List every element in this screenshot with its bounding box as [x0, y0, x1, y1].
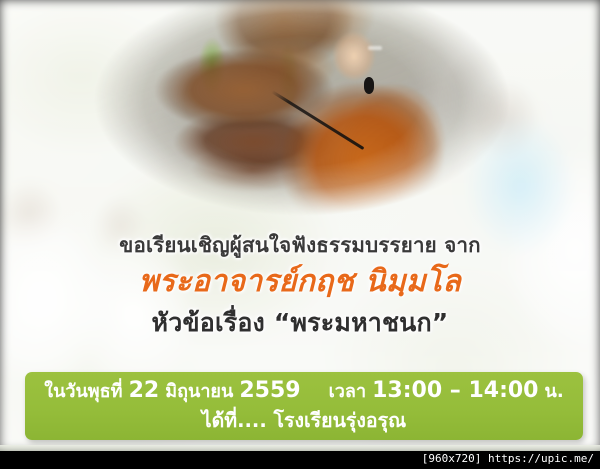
date-month-label: มิถุนายน	[165, 381, 233, 402]
monk-photo	[76, 0, 528, 226]
source-url-label[interactable]: https://upic.me/	[488, 452, 594, 465]
time-suffix-label: น.	[545, 381, 564, 402]
eyeglasses-glint	[368, 46, 382, 50]
time-range-value: 13:00 – 14:00	[372, 378, 538, 403]
footer-watermark: [960x720] https://upic.me/	[422, 452, 594, 465]
date-day-value: 22	[129, 378, 160, 403]
schedule-datetime-row: ในวันพุธที่ 22 มิถุนายน 2559 เวลา 13:00 …	[25, 376, 583, 407]
headline-text-block: ขอเรียนเชิญผู้สนใจฟังธรรมบรรยาย จาก พระอ…	[0, 230, 600, 342]
image-dimensions-label: [960x720]	[422, 452, 482, 465]
date-year-value: 2559	[239, 378, 300, 403]
poster-canvas: ขอเรียนเชิญผู้สนใจฟังธรรมบรรยาย จาก พระอ…	[0, 0, 600, 469]
microphone-head-icon	[364, 77, 374, 94]
time-label: เวลา	[329, 381, 366, 402]
date-prefix-label: ในวันพุธที่	[44, 381, 122, 402]
monk-photo-image	[76, 0, 528, 226]
topic-title: หัวข้อเรื่อง “พระมหาชนก”	[0, 304, 600, 342]
invitation-line: ขอเรียนเชิญผู้สนใจฟังธรรมบรรยาย จาก	[0, 230, 600, 260]
schedule-banner: ในวันพุธที่ 22 มิถุนายน 2559 เวลา 13:00 …	[25, 372, 583, 440]
venue-row: ได้ที่.... โรงเรียนรุ่งอรุณ	[25, 407, 583, 435]
speaker-name: พระอาจารย์กฤช นิมฺมโล	[0, 260, 600, 304]
